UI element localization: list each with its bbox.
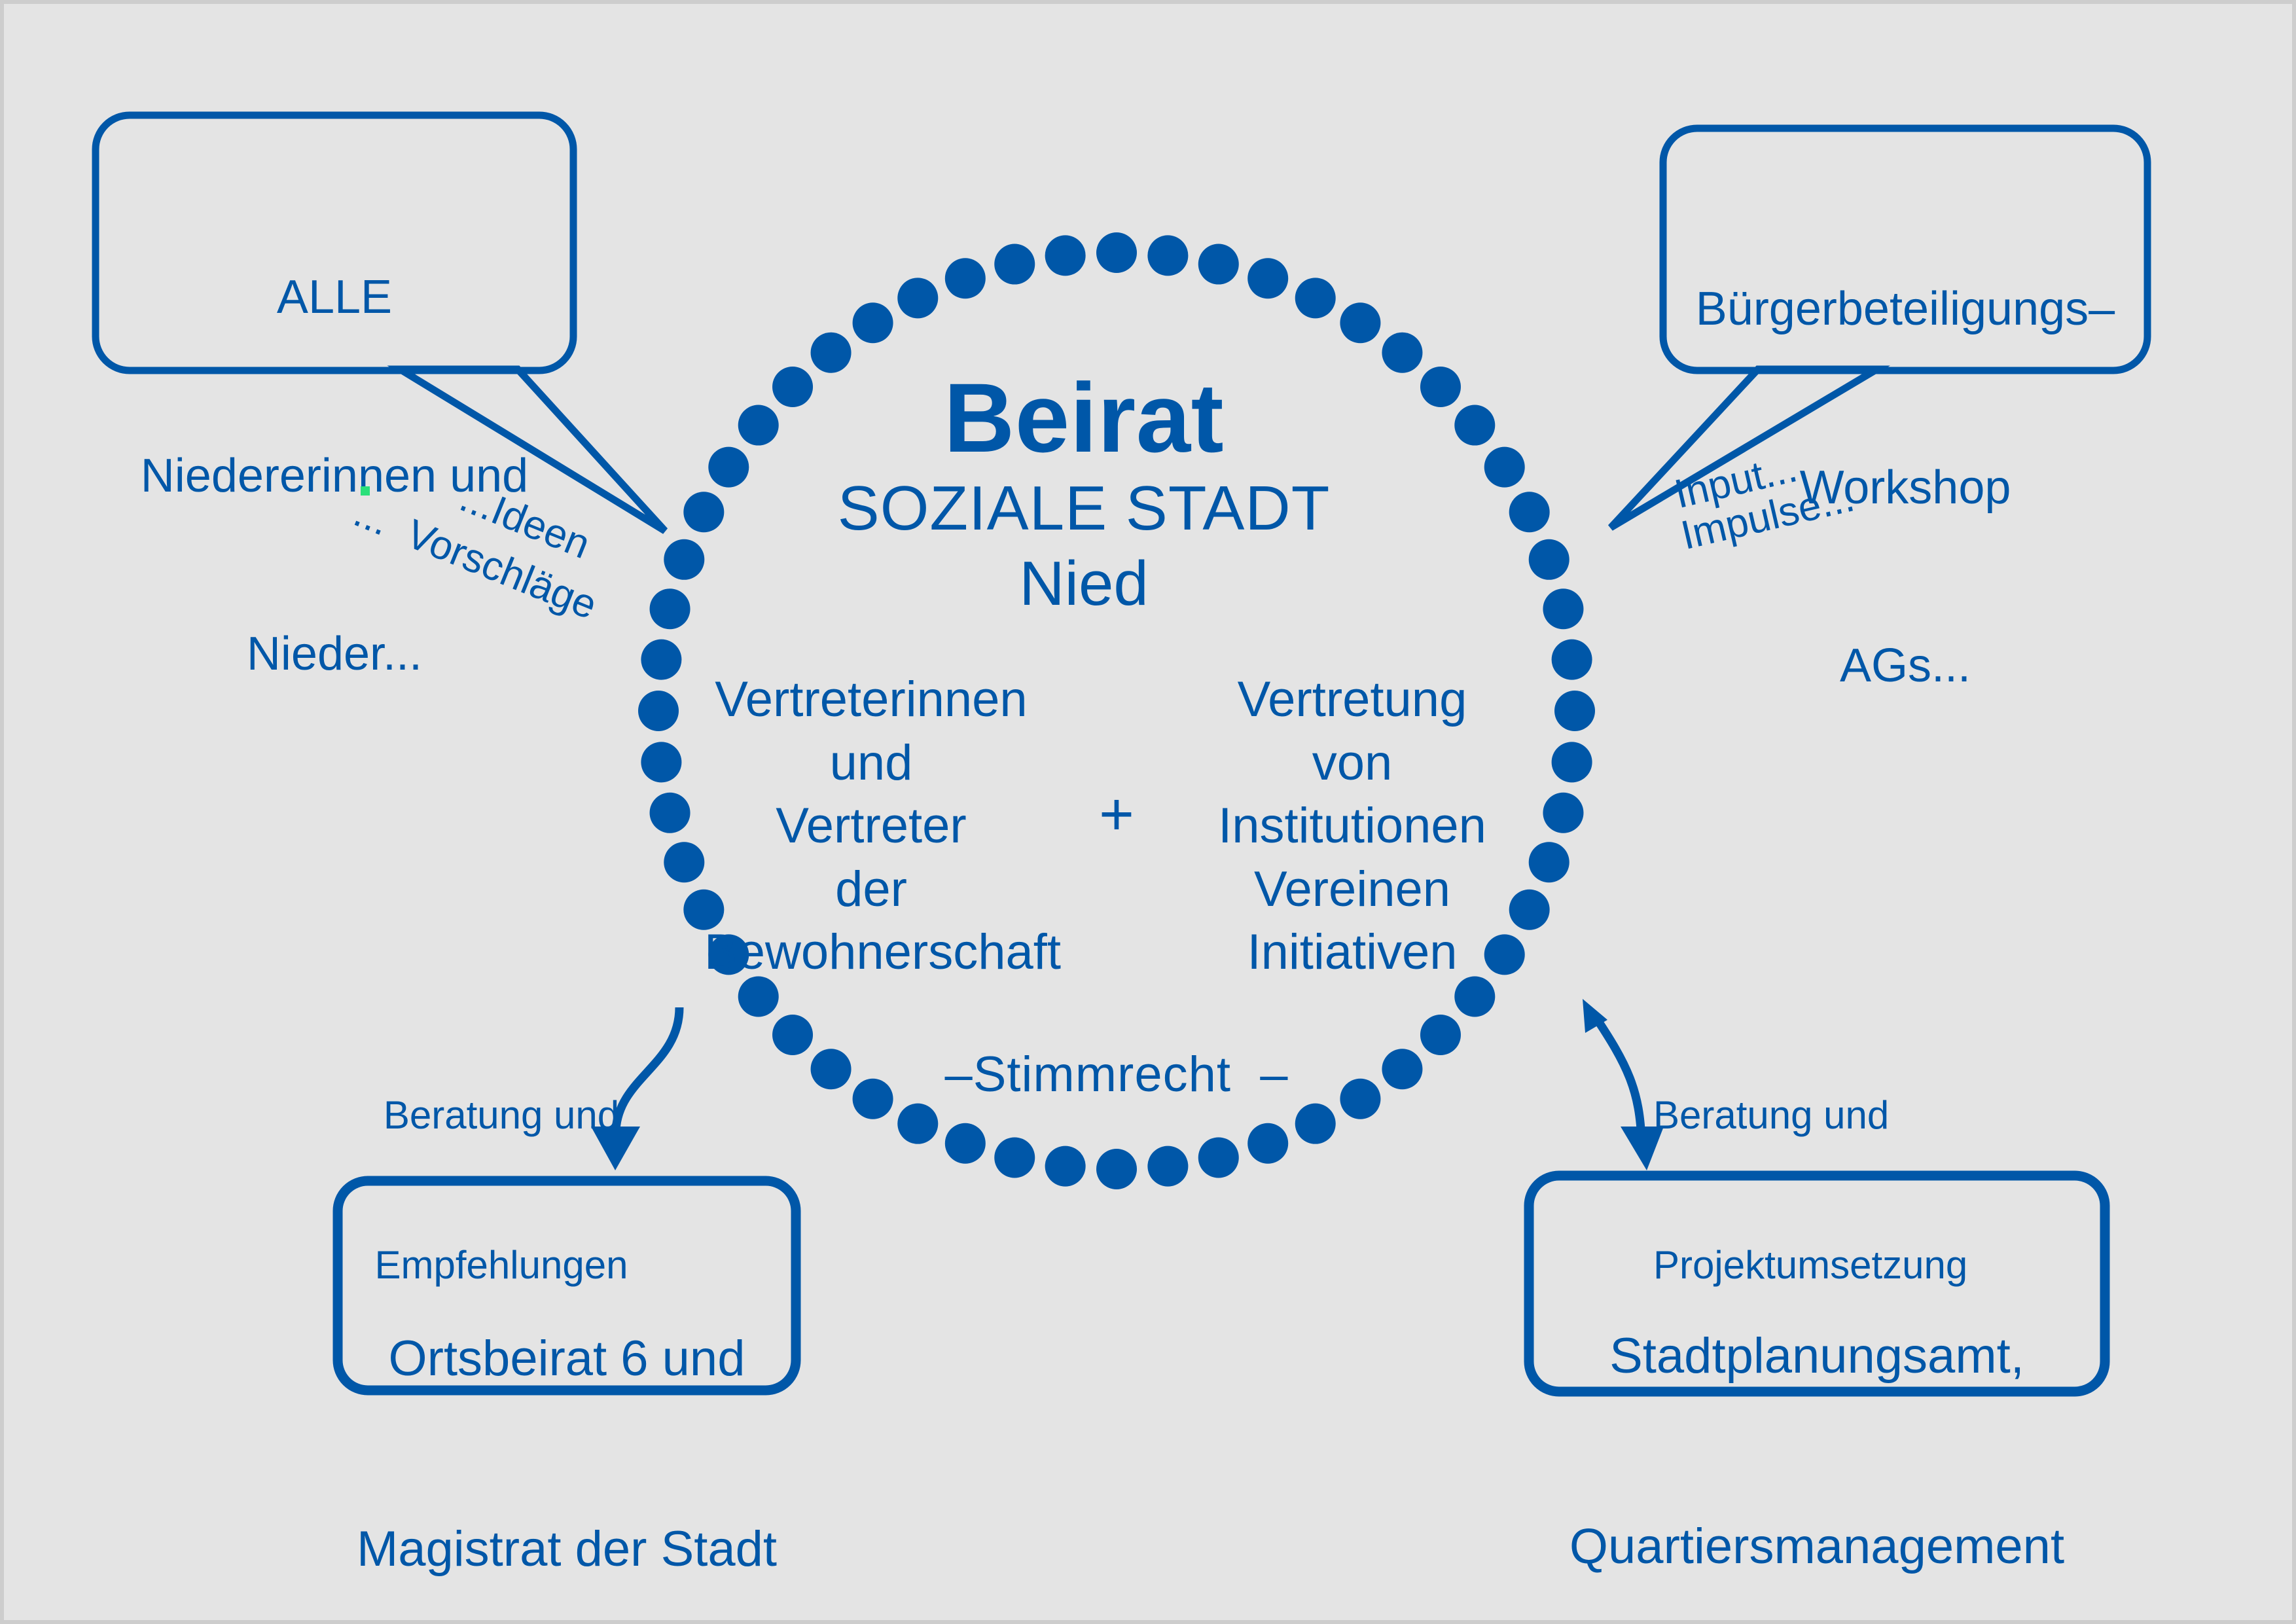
ring-dot (1147, 235, 1188, 276)
bottom-right-box-text: Stadtplanungsamt, Quartiersmanagement un… (1535, 1197, 2098, 1624)
member-group-institutions: VertretungvonInstitutionenVereinenInitia… (1182, 668, 1522, 984)
ring-dot (650, 588, 691, 629)
ring-dot (1382, 1049, 1422, 1089)
ring-dot (1382, 333, 1422, 373)
ring-dot (738, 405, 779, 446)
ring-dot (1420, 1015, 1461, 1055)
ring-dot (641, 742, 681, 782)
bubble-tr-line3: AGs... (1670, 636, 2141, 696)
ring-dot (1045, 1146, 1086, 1187)
bubble-tl-line1: ALLE (102, 268, 567, 327)
ring-dot (1543, 588, 1583, 629)
diagram-canvas: ALLE Niedererinnen und Nieder... Bürgerb… (0, 0, 2296, 1624)
page-title: Beirat (789, 361, 1378, 475)
ring-dot (1420, 367, 1461, 407)
arrow-beratung-projektumsetzung (1583, 999, 1664, 1170)
bubble-tr-line1: Bürgerbeteiligungs– (1670, 280, 2141, 339)
ring-dot (664, 842, 704, 882)
ring-dot (1198, 244, 1239, 285)
voting-rights-note: –Stimmrecht – (888, 1046, 1346, 1104)
ring-dot (708, 447, 749, 488)
ring-dot (1340, 302, 1380, 343)
ring-dot (641, 640, 681, 680)
ring-dot (897, 278, 938, 318)
subtitle-nied: Nied (789, 547, 1378, 620)
ring-dot (1543, 793, 1583, 833)
subtitle-soziale-stadt: SOZIALE STADT (789, 472, 1378, 545)
speech-bubble-top-left-text: ALLE Niedererinnen und Nieder... (102, 149, 567, 803)
ring-dot (650, 793, 691, 833)
member-group-residents: VertreterinnenundVertreterderBewohnersch… (704, 668, 1038, 984)
bottom-right-line1: Stadtplanungsamt, (1535, 1324, 2098, 1388)
ring-dot (1045, 235, 1086, 276)
annotation-beratung-projektumsetzung-line1: Beratung und (1653, 1091, 1967, 1140)
ring-dot (1295, 1104, 1336, 1144)
ring-dot (772, 1015, 813, 1055)
ring-dot (994, 244, 1035, 285)
ring-dot (1096, 232, 1137, 273)
bottom-left-line2: Magistrat der Stadt (344, 1517, 789, 1581)
ring-dot (1198, 1137, 1239, 1178)
ring-dot (1509, 492, 1550, 532)
ring-dot (853, 302, 893, 343)
ring-dot (1096, 1149, 1137, 1189)
bottom-left-box-text: Ortsbeirat 6 und Magistrat der Stadt Fra… (344, 1199, 789, 1624)
annotation-beratung-empfehlungen-line1: Beratung und (370, 1091, 632, 1140)
ring-dot (1484, 447, 1525, 488)
ring-dot (664, 539, 704, 580)
ring-dot (1295, 278, 1336, 318)
ring-dot (945, 1123, 986, 1164)
ring-dot (1552, 640, 1592, 680)
ring-dot (811, 1049, 852, 1089)
ring-dot (897, 1104, 938, 1144)
ring-dot (1147, 1146, 1188, 1187)
ring-dot (1454, 405, 1495, 446)
plus-operator: + (1071, 780, 1162, 850)
ring-dot (1552, 742, 1592, 782)
ring-dot (945, 258, 986, 298)
ring-dot (1554, 691, 1595, 731)
bottom-left-line1: Ortsbeirat 6 und (344, 1327, 789, 1390)
ring-dot (683, 492, 724, 532)
ring-dot (1529, 539, 1570, 580)
bubble-tl-line3: Nieder... (102, 624, 567, 684)
bottom-right-line2: Quartiersmanagement (1535, 1515, 2098, 1578)
diagram-artboard: ALLE Niedererinnen und Nieder... Bürgerb… (4, 4, 2292, 1620)
ring-dot (1247, 1123, 1288, 1164)
ring-dot (638, 691, 679, 731)
ring-dot (1529, 842, 1570, 882)
ring-dot (1340, 1079, 1380, 1119)
ring-dot (1247, 258, 1288, 298)
ring-dot (994, 1137, 1035, 1178)
